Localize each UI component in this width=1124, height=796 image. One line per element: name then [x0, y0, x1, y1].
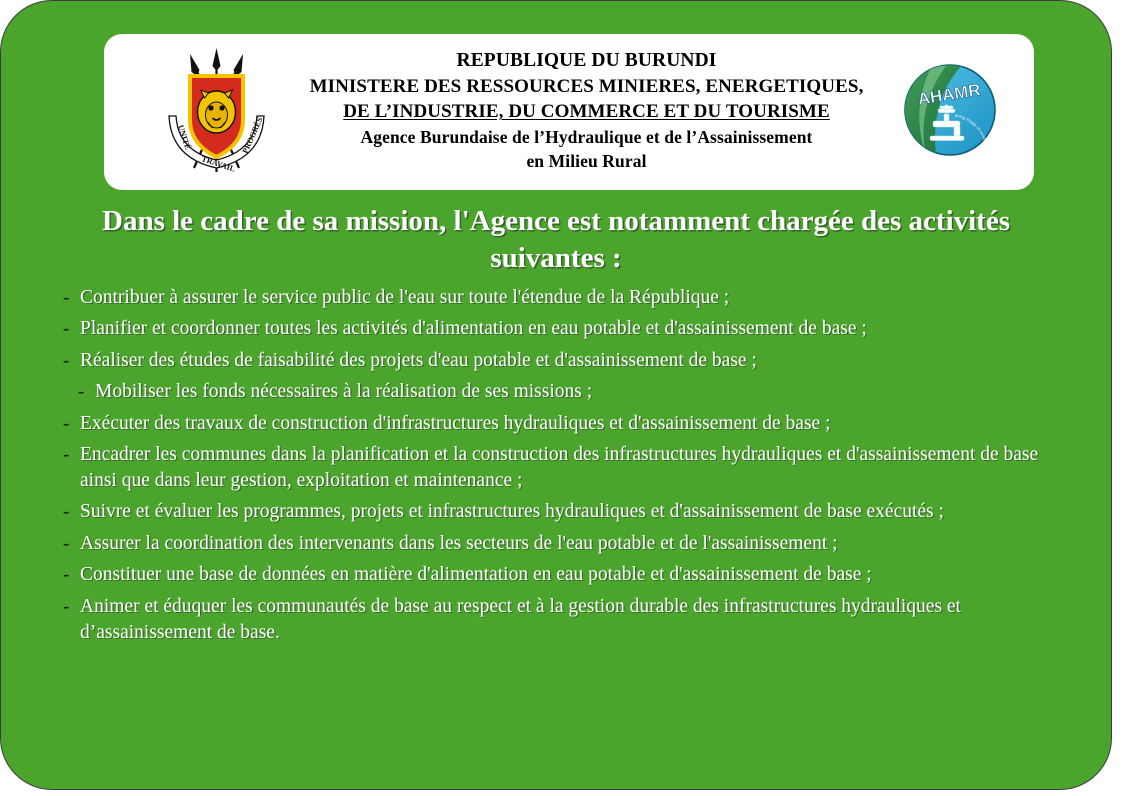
bullet-marker-icon: - — [63, 499, 80, 524]
activities-list: -Contribuer à assurer le service public … — [63, 285, 1075, 651]
header-line-ministry-1: MINISTERE DES RESSOURCES MINIERES, ENERG… — [284, 74, 889, 99]
activity-text: Exécuter des travaux de construction d'i… — [80, 411, 1075, 437]
activity-item: -Encadrer les communes dans la planifica… — [63, 442, 1075, 494]
bullet-marker-icon: - — [63, 316, 80, 341]
ahamr-logo-icon: Agence Burundaise de l'Hydraulique et de… — [902, 60, 998, 160]
header-text-block: REPUBLIQUE DU BURUNDI MINISTERE DES RESS… — [284, 48, 889, 173]
activity-text: Planifier et coordonner toutes les activ… — [80, 316, 1075, 342]
activity-text: Mobiliser les fonds nécessaires à la réa… — [95, 379, 1075, 405]
activity-item: -Exécuter des travaux de construction d'… — [63, 411, 1075, 437]
bullet-marker-icon: - — [63, 562, 80, 587]
bullet-marker-icon: - — [63, 594, 80, 619]
header-line-agency-1: Agence Burundaise de l’Hydraulique et de… — [284, 126, 889, 149]
activity-text: Réaliser des études de faisabilité des p… — [80, 348, 1075, 374]
bullet-marker-icon: - — [63, 411, 80, 436]
activity-item: -Réaliser des études de faisabilité des … — [63, 348, 1075, 374]
bullet-marker-icon: - — [78, 379, 95, 404]
header-line-republic: REPUBLIQUE DU BURUNDI — [284, 48, 889, 74]
activity-item: -Suivre et évaluer les programmes, proje… — [63, 499, 1075, 525]
activity-text: Suivre et évaluer les programmes, projet… — [80, 499, 1075, 525]
activity-item: -Contribuer à assurer le service public … — [63, 285, 1075, 311]
bullet-marker-icon: - — [63, 442, 80, 467]
coat-of-arms-icon: UNITÉ TRAVAIL PROGRÈS — [159, 40, 274, 185]
activity-item: -Assurer la coordination des intervenant… — [63, 531, 1075, 557]
activity-item: -Constituer une base de données en matiè… — [63, 562, 1075, 588]
bullet-marker-icon: - — [63, 285, 80, 310]
header-line-ministry-2: DE L’INDUSTRIE, DU COMMERCE ET DU TOURIS… — [284, 99, 889, 124]
activity-text: Animer et éduquer les communautés de bas… — [80, 594, 1075, 646]
bullet-marker-icon: - — [63, 348, 80, 373]
activity-item: -Animer et éduquer les communautés de ba… — [63, 594, 1075, 646]
green-content-panel: UNITÉ TRAVAIL PROGRÈS REPUBLIQUE DU BURU… — [0, 0, 1112, 790]
activity-text: Assurer la coordination des intervenants… — [80, 531, 1075, 557]
header-card: UNITÉ TRAVAIL PROGRÈS REPUBLIQUE DU BURU… — [104, 34, 1034, 190]
header-line-agency-2: en Milieu Rural — [284, 150, 889, 173]
activity-item: -Planifier et coordonner toutes les acti… — [63, 316, 1075, 342]
bullet-marker-icon: - — [63, 531, 80, 556]
activity-item: -Mobiliser les fonds nécessaires à la ré… — [63, 379, 1075, 405]
activity-text: Constituer une base de données en matièr… — [80, 562, 1075, 588]
activity-text: Encadrer les communes dans la planificat… — [80, 442, 1075, 494]
activity-text: Contribuer à assurer le service public d… — [80, 285, 1075, 311]
page-title: Dans le cadre de sa mission, l'Agence es… — [45, 203, 1067, 277]
